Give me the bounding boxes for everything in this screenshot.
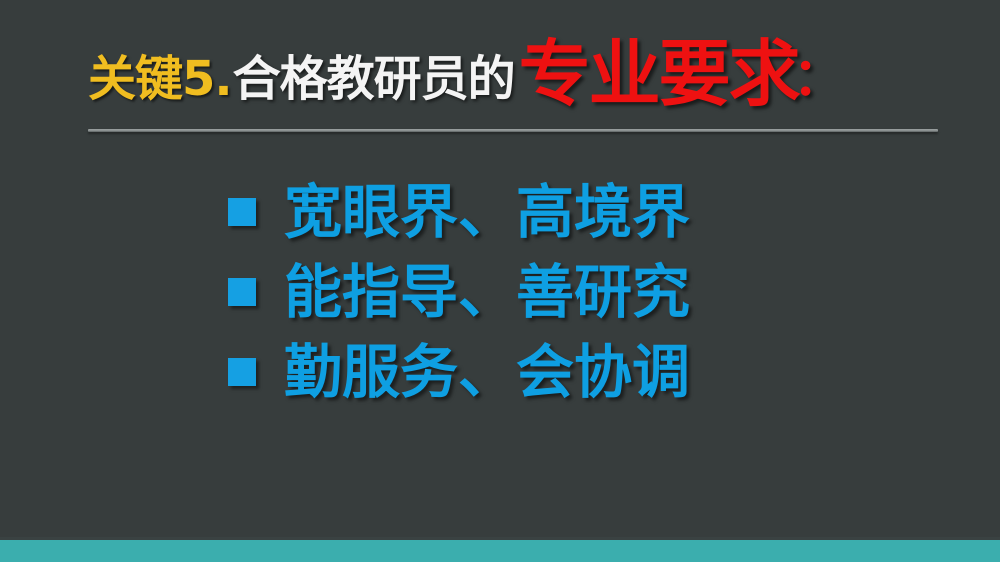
bullet-list: 宽眼界、高境界 能指导、善研究 勤服务、会协调: [228, 172, 948, 412]
title-emphasis-colon: ：: [793, 52, 845, 104]
square-bullet-icon: [228, 358, 256, 386]
slide-canvas: 关键5. 合格教研员的 专业要求 ： 宽眼界、高境界 能指导、善研究 勤服务、会…: [0, 0, 1000, 562]
list-item-label: 勤服务、会协调: [284, 343, 690, 401]
title-emphasis: 专业要求: [519, 38, 799, 110]
list-item-label: 宽眼界、高境界: [284, 183, 690, 241]
list-item: 勤服务、会协调: [228, 332, 948, 412]
square-bullet-icon: [228, 278, 256, 306]
list-item-label: 能指导、善研究: [284, 263, 690, 321]
slide-title: 关键5. 合格教研员的 专业要求 ：: [88, 34, 948, 120]
title-key-number: 关键5.: [88, 55, 232, 103]
square-bullet-icon: [228, 198, 256, 226]
list-item: 宽眼界、高境界: [228, 172, 948, 252]
title-divider-line: [88, 129, 938, 132]
list-item: 能指导、善研究: [228, 252, 948, 332]
title-subject: 合格教研员的: [233, 55, 515, 103]
bottom-accent-bar: [0, 540, 1000, 562]
